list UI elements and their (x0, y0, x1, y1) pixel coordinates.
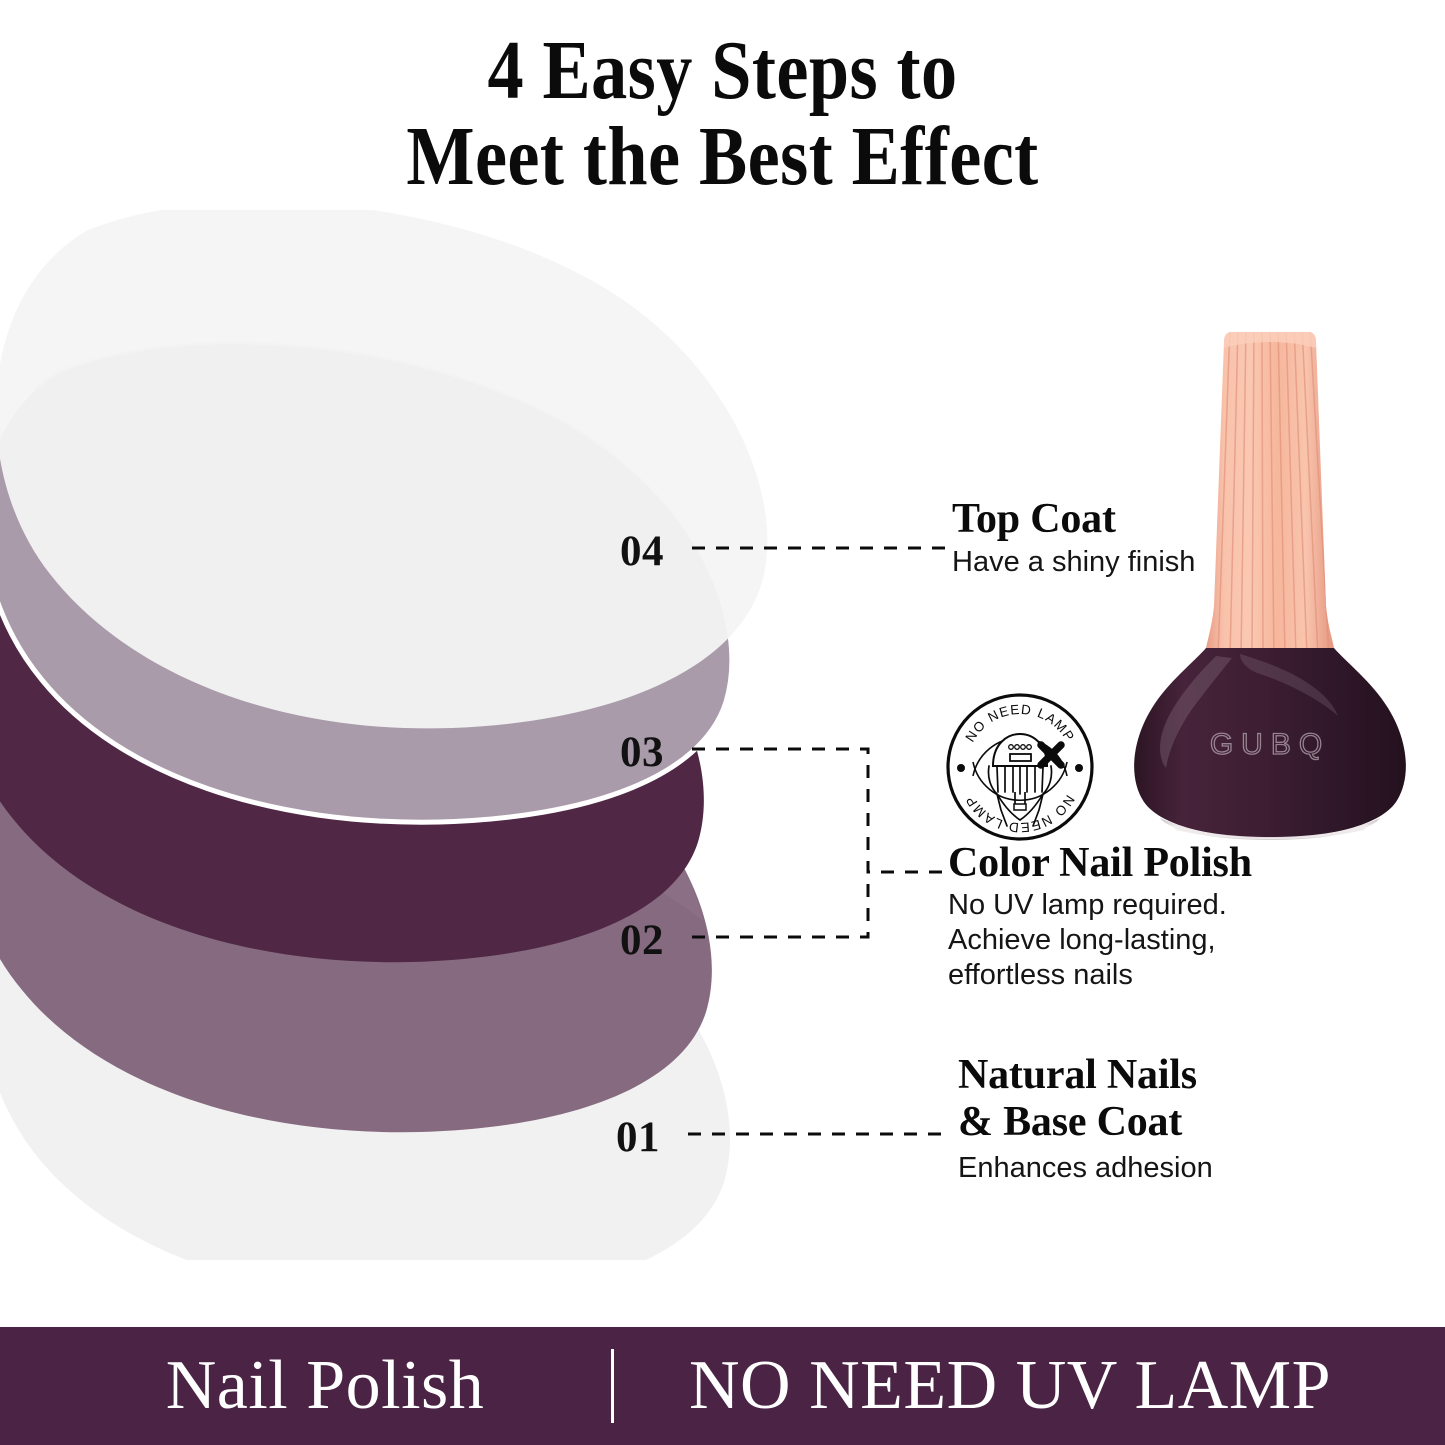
step-01-description: Enhances adhesion (958, 1151, 1378, 1185)
step-03-description-line-2: Achieve long-lasting, (948, 923, 1378, 958)
step-04-description: Have a shiny finish (952, 545, 1372, 579)
title-line-1: 4 Easy Steps to (101, 28, 1344, 114)
step-label-color-nail-polish: Color Nail Polish No UV lamp required. A… (948, 842, 1378, 994)
banner-left: Nail Polish (45, 1346, 605, 1426)
step-03-description-line-1: No UV lamp required. (948, 888, 1378, 923)
bottle-body: GUBQ (1134, 648, 1406, 840)
step-number-04: 04 (620, 527, 664, 576)
step-number-02: 02 (620, 916, 664, 965)
step-number-01: 01 (616, 1113, 660, 1162)
step-number-03: 03 (620, 728, 664, 777)
step-01-heading-line-1: Natural Nails (958, 1052, 1378, 1099)
banner-right: NO NEED UV LAMP (620, 1346, 1400, 1426)
title-line-2: Meet the Best Effect (101, 114, 1344, 200)
bottle-brand-text: GUBQ (1210, 728, 1330, 761)
banner-left-text: Nail Polish (166, 1347, 485, 1424)
page-title: 4 Easy Steps to Meet the Best Effect (0, 28, 1445, 199)
step-01-heading-line-2: & Base Coat (958, 1099, 1378, 1146)
nail-layer-stack (0, 210, 900, 1260)
nail-polish-bottle: GUBQ (1120, 326, 1420, 846)
banner-divider (611, 1349, 614, 1423)
bottle-cap (1206, 326, 1334, 656)
bottom-banner: Nail Polish NO NEED UV LAMP (0, 1327, 1445, 1445)
banner-right-text: NO NEED UV LAMP (689, 1347, 1331, 1424)
step-label-01: Natural Nails & Base Coat Enhances adhes… (958, 1052, 1378, 1185)
step-04-heading: Top Coat (952, 498, 1372, 542)
step-03-description-line-3: effortless nails (948, 958, 1378, 993)
step-03-heading: Color Nail Polish (948, 842, 1378, 886)
step-label-04: Top Coat Have a shiny finish (952, 498, 1372, 579)
no-need-lamp-badge-icon: NO NEED LAMP NO NEED LAMP (945, 692, 1095, 842)
infographic-page: 4 Easy Steps to Meet the Best Effect (0, 0, 1445, 1445)
